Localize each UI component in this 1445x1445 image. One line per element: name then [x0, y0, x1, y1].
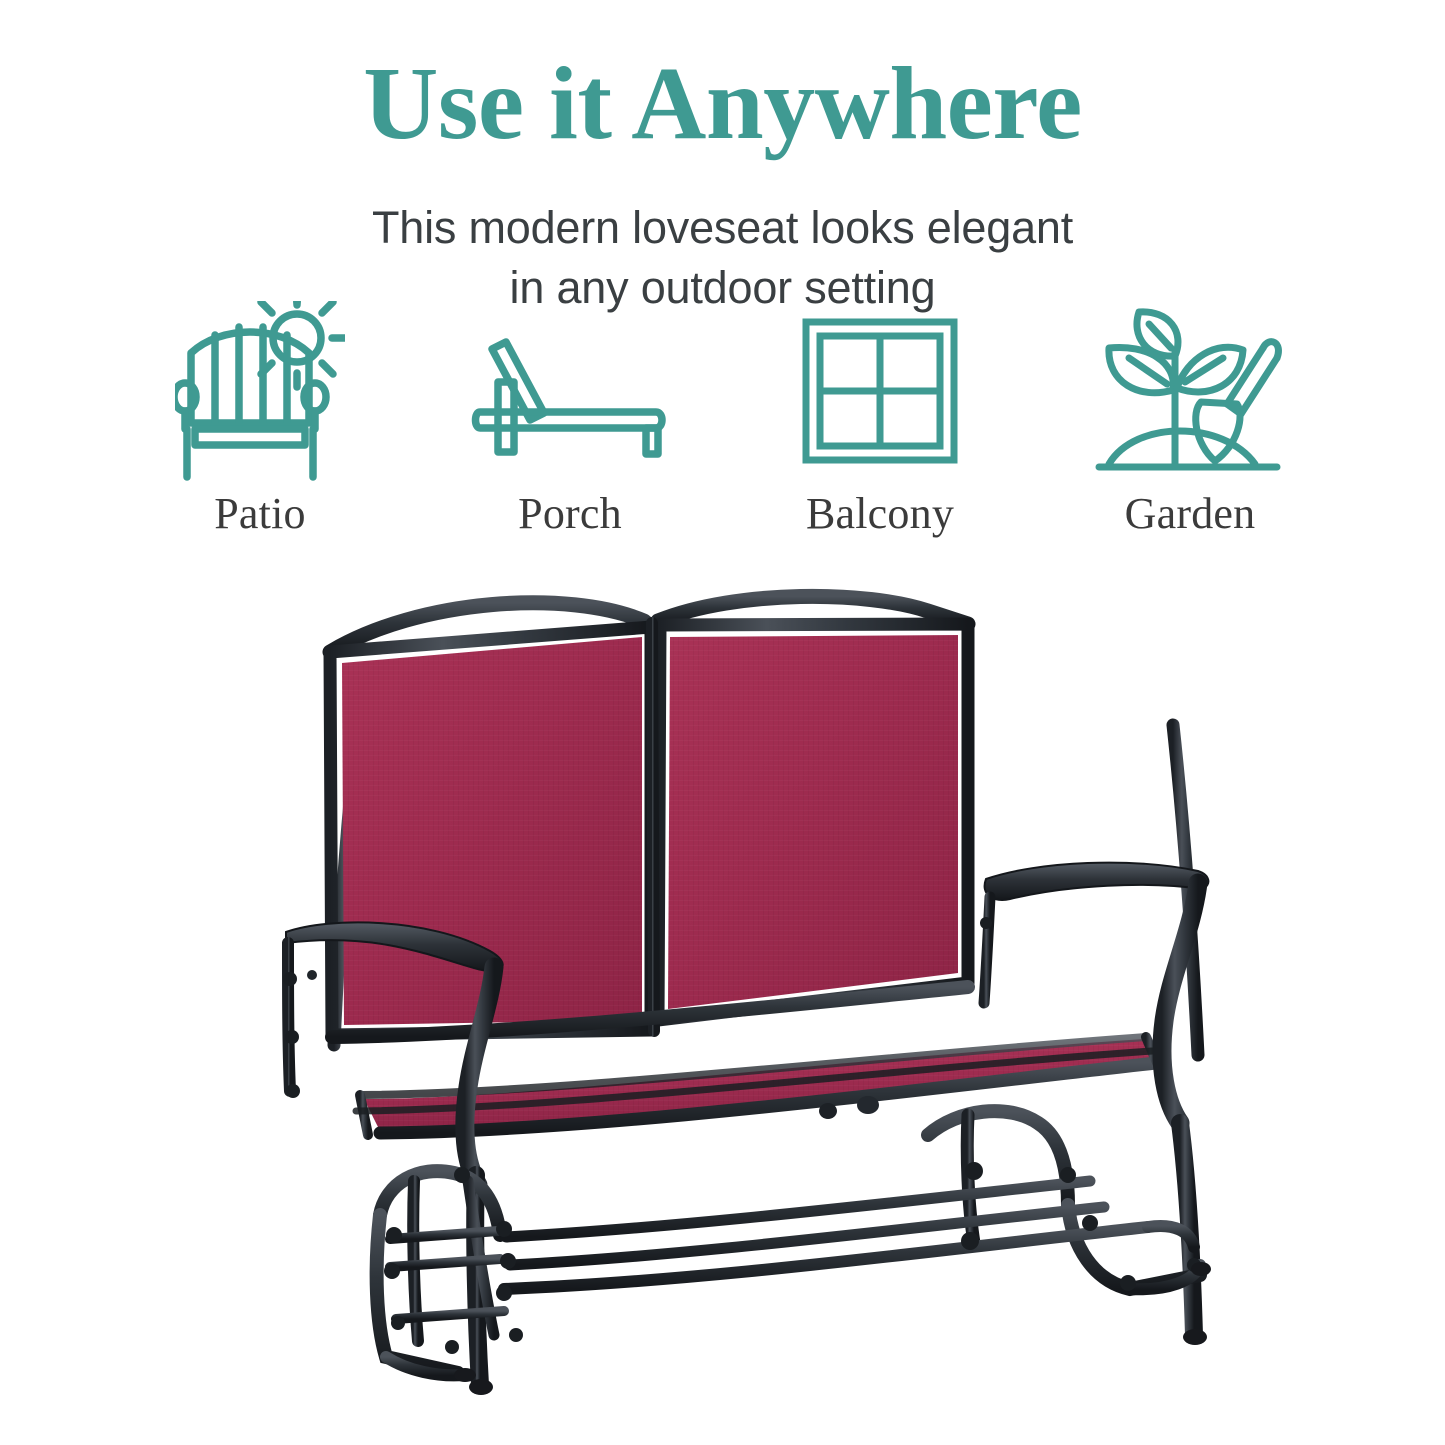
product-illustration	[268, 575, 1238, 1405]
plant-with-trowel-icon	[1095, 296, 1285, 486]
feature-label-balcony: Balcony	[806, 492, 954, 536]
feature-label-porch: Porch	[518, 492, 622, 536]
feature-porch: Porch	[420, 296, 720, 536]
feature-label-patio: Patio	[214, 492, 305, 536]
subtitle-line-1: This modern loveseat looks elegant	[0, 198, 1445, 258]
feature-balcony: Balcony	[730, 296, 1030, 536]
lounge-chair-icon	[470, 296, 670, 486]
feature-icon-row: Patio Porch	[110, 296, 1340, 566]
feature-label-garden: Garden	[1125, 492, 1256, 536]
backrest-center-post	[652, 623, 654, 1031]
adirondack-chair-sun-icon	[175, 296, 345, 486]
glider-base-right	[504, 1111, 1200, 1289]
window-four-pane-icon	[800, 296, 960, 486]
backrest-right-panel	[658, 624, 968, 1020]
product-image-glider-loveseat	[268, 575, 1238, 1405]
feature-garden: Garden	[1040, 296, 1340, 536]
feature-patio: Patio	[110, 296, 410, 536]
page-title: Use it Anywhere	[0, 52, 1445, 156]
marketing-page: Use it Anywhere This modern loveseat loo…	[0, 0, 1445, 1445]
